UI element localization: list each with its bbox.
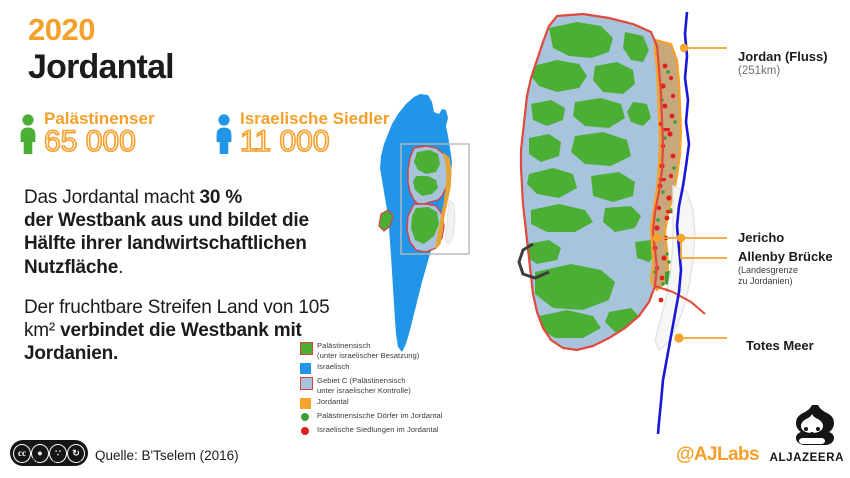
stat-value-settlers: 11 000: [240, 127, 330, 157]
ajlabs-handle: @AJLabs: [676, 444, 759, 466]
paragraph-share: Das Jordantal macht 30 % der Westbank au…: [24, 186, 354, 279]
person-icon: [214, 114, 234, 154]
callout-allenby-sub-l2: zu Jordanien): [738, 276, 833, 287]
legend-swatch-orange: [300, 398, 311, 409]
legend-label-pal-villages: Palästinensische Dörfer im Jordantal: [317, 411, 442, 420]
legend-label-israeli: Israelisch: [317, 362, 350, 371]
callout-dead-sea: Totes Meer: [746, 339, 814, 354]
person-icon: [18, 114, 38, 154]
map-legend: Palästinensisch (unter israelischer Besa…: [300, 341, 515, 439]
infographic-canvas: 2020 Jordantal Palästinenser 65 000 Isra…: [0, 0, 850, 478]
paragraph-1-pct: 30 %: [200, 187, 243, 208]
paragraph-1-end: .: [118, 257, 123, 278]
legend-label-palestinian-l1: Palästinensisch: [317, 341, 371, 350]
legend-item-jordan-valley: Jordantal: [300, 397, 515, 410]
callout-dead-sea-title: Totes Meer: [746, 339, 814, 354]
legend-swatch-green: [300, 342, 313, 355]
callout-allenby-title: Allenby Brücke: [738, 250, 833, 265]
source-credit: Quelle: B'Tselem (2016): [95, 448, 239, 463]
cc-sub-marks: BY NC SA: [10, 458, 88, 464]
callout-allenby-bridge: Allenby Brücke (Landesgrenze zu Jordanie…: [738, 250, 833, 287]
year-label: 2020: [28, 14, 95, 45]
cc-mark-by: BY: [31, 458, 38, 464]
legend-label-area-c-l2: unter israelischer Kontrolle): [317, 386, 411, 395]
legend-swatch-area-c: [300, 377, 313, 390]
callout-jordan-river: Jordan (Fluss) (251km): [738, 50, 828, 79]
stat-value-palestinians: 65 000: [44, 127, 136, 157]
aljazeera-wordmark: ALJAZEERA: [770, 452, 844, 464]
aljazeera-logo-icon: [786, 404, 838, 448]
paragraph-2-bold: verbindet die Westbank mit Jordanien.: [24, 320, 302, 364]
page-title: Jordantal: [28, 50, 174, 84]
cc-mark-sa: SA: [74, 458, 81, 464]
west-bank-detail-map: [505, 10, 735, 435]
legend-label-area-c-l1: Gebiet C (Palästinensisch: [317, 376, 406, 385]
legend-dot-red: [301, 427, 309, 435]
branding: @AJLabs ALJAZEERA: [676, 400, 844, 468]
cc-mark-nc: NC: [52, 458, 59, 464]
legend-dot-green: [301, 413, 309, 421]
callout-jordan-river-title: Jordan (Fluss): [738, 50, 828, 65]
callout-jericho: Jericho: [738, 231, 784, 246]
inset-overview-map: [368, 92, 478, 354]
legend-swatch-blue: [300, 363, 311, 374]
paragraph-1-bold: der Westbank aus und bildet die Hälfte i…: [24, 210, 309, 277]
callout-allenby-sub-l1: (Landesgrenze: [738, 265, 833, 276]
legend-item-pal-villages: Palästinensische Dörfer im Jordantal: [300, 411, 515, 424]
legend-item-area-c: Gebiet C (Palästinensisch unter israelis…: [300, 376, 515, 396]
paragraph-1-lead: Das Jordantal macht: [24, 187, 200, 208]
legend-item-israeli: Israelisch: [300, 362, 515, 375]
callout-jericho-title: Jericho: [738, 231, 784, 246]
legend-label-jordan-valley: Jordantal: [317, 397, 349, 406]
legend-label-isr-settlements: Israelische Siedlungen im Jordantal: [317, 425, 439, 434]
legend-item-isr-settlements: Israelische Siedlungen im Jordantal: [300, 425, 515, 438]
callout-jordan-river-sub: (251km): [738, 65, 828, 79]
